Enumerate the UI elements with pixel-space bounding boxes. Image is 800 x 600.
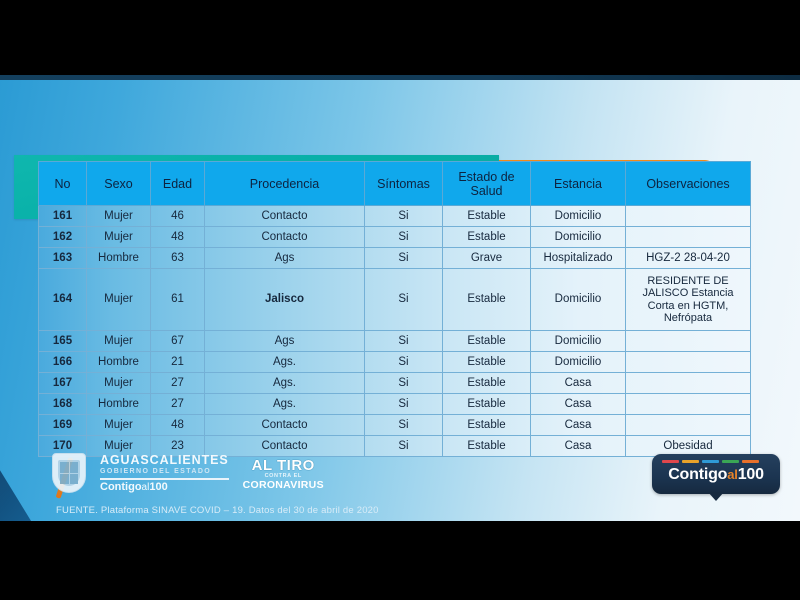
cell-procedencia: Contacto	[205, 206, 365, 227]
altiro-line1: AL TIRO	[243, 458, 324, 473]
badge-al: al	[727, 467, 737, 482]
cell-estancia: Domicilio	[531, 227, 626, 248]
cell-estancia: Casa	[531, 436, 626, 457]
cases-table: No Sexo Edad Procedencia Síntomas Estado…	[38, 161, 751, 457]
cell-sexo: Mujer	[87, 415, 151, 436]
cell-edad: 21	[151, 352, 205, 373]
cell-procedencia: Ags.	[205, 373, 365, 394]
presentation-slide: CASOS POSITIVOS No Sexo Edad Procedencia…	[0, 75, 800, 521]
cell-edad: 48	[151, 415, 205, 436]
cell-sintomas: Si	[365, 394, 443, 415]
cell-edad: 46	[151, 206, 205, 227]
cell-no: 161	[39, 206, 87, 227]
badge-label: Contigoal100	[652, 466, 780, 484]
col-header-no: No	[39, 162, 87, 206]
gov-slogan: Contigoal100	[100, 482, 229, 494]
cell-edad: 48	[151, 227, 205, 248]
cell-sintomas: Si	[365, 248, 443, 269]
badge-tail	[708, 492, 724, 501]
cell-no: 162	[39, 227, 87, 248]
cell-sintomas: Si	[365, 227, 443, 248]
gov-logo-text: AGUASCALIENTES GOBIERNO DEL ESTADO Conti…	[100, 454, 229, 494]
cell-estado: Estable	[443, 373, 531, 394]
cell-estado: Estable	[443, 269, 531, 331]
col-header-observaciones: Observaciones	[626, 162, 751, 206]
cell-no: 164	[39, 269, 87, 331]
cell-sexo: Hombre	[87, 394, 151, 415]
cell-no: 167	[39, 373, 87, 394]
aguascalientes-shield-icon	[52, 453, 86, 495]
cell-observaciones	[626, 394, 751, 415]
footer-logos: AGUASCALIENTES GOBIERNO DEL ESTADO Conti…	[52, 453, 324, 495]
cell-procedencia: Contacto	[205, 227, 365, 248]
cell-estancia: Casa	[531, 373, 626, 394]
cell-estado: Estable	[443, 436, 531, 457]
cell-sintomas: Si	[365, 352, 443, 373]
cell-sintomas: Si	[365, 331, 443, 352]
cell-procedencia: Ags.	[205, 352, 365, 373]
cell-procedencia: Contacto	[205, 415, 365, 436]
cell-procedencia: Ags.	[205, 394, 365, 415]
cell-observaciones: RESIDENTE DE JALISCO Estancia Corta en H…	[626, 269, 751, 331]
cell-observaciones	[626, 373, 751, 394]
badge-main: Contigo	[668, 466, 727, 483]
badge-bar-1	[682, 460, 699, 463]
cell-estancia: Casa	[531, 394, 626, 415]
cell-sexo: Hombre	[87, 248, 151, 269]
table-row: 166Hombre21Ags.SiEstableDomicilio	[39, 352, 751, 373]
cell-procedencia: Jalisco	[205, 269, 365, 331]
col-header-estancia: Estancia	[531, 162, 626, 206]
source-note: FUENTE. Plataforma SINAVE COVID – 19. Da…	[56, 505, 379, 516]
cell-sintomas: Si	[365, 436, 443, 457]
cell-estado: Estable	[443, 415, 531, 436]
cell-sintomas: Si	[365, 373, 443, 394]
cell-procedencia: Ags	[205, 331, 365, 352]
badge-bar-0	[662, 460, 679, 463]
altiro-logo: AL TIRO CONTRA EL CORONAVIRUS	[243, 458, 324, 491]
gov-subtitle: GOBIERNO DEL ESTADO	[100, 468, 229, 475]
cell-sexo: Hombre	[87, 352, 151, 373]
cell-sexo: Mujer	[87, 331, 151, 352]
gov-logo-divider	[100, 478, 229, 480]
cell-sintomas: Si	[365, 415, 443, 436]
cell-sexo: Mujer	[87, 269, 151, 331]
cell-no: 165	[39, 331, 87, 352]
cell-estancia: Domicilio	[531, 269, 626, 331]
cell-estado: Estable	[443, 227, 531, 248]
cell-sexo: Mujer	[87, 227, 151, 248]
table-header-row: No Sexo Edad Procedencia Síntomas Estado…	[39, 162, 751, 206]
col-header-sexo: Sexo	[87, 162, 151, 206]
cell-estado: Estable	[443, 206, 531, 227]
table-row: 165Mujer67AgsSiEstableDomicilio	[39, 331, 751, 352]
table-row: 162Mujer48ContactoSiEstableDomicilio	[39, 227, 751, 248]
table-row: 164Mujer61JaliscoSiEstableDomicilioRESID…	[39, 269, 751, 331]
cell-no: 169	[39, 415, 87, 436]
cell-edad: 67	[151, 331, 205, 352]
cell-sintomas: Si	[365, 269, 443, 331]
cell-observaciones: HGZ-2 28-04-20	[626, 248, 751, 269]
cell-sexo: Mujer	[87, 206, 151, 227]
cell-estancia: Hospitalizado	[531, 248, 626, 269]
cell-estado: Estable	[443, 331, 531, 352]
cell-estado: Grave	[443, 248, 531, 269]
slide-top-rule	[0, 75, 800, 80]
cell-observaciones	[626, 415, 751, 436]
cell-estado: Estable	[443, 394, 531, 415]
table-row: 161Mujer46ContactoSiEstableDomicilio	[39, 206, 751, 227]
badge-bar-2	[702, 460, 719, 463]
table-row: 169Mujer48ContactoSiEstableCasa	[39, 415, 751, 436]
cell-edad: 27	[151, 373, 205, 394]
cell-observaciones	[626, 331, 751, 352]
badge-bar-4	[742, 460, 759, 463]
contigo-al-100-badge: Contigoal100	[652, 454, 780, 494]
cases-table-wrapper: No Sexo Edad Procedencia Síntomas Estado…	[38, 161, 750, 457]
cell-no: 166	[39, 352, 87, 373]
table-header: No Sexo Edad Procedencia Síntomas Estado…	[39, 162, 751, 206]
cell-observaciones	[626, 352, 751, 373]
table-row: 163Hombre63AgsSiGraveHospitalizadoHGZ-2 …	[39, 248, 751, 269]
cell-observaciones	[626, 206, 751, 227]
col-header-procedencia: Procedencia	[205, 162, 365, 206]
col-header-estado-salud: Estado de Salud	[443, 162, 531, 206]
altiro-line3: CORONAVIRUS	[243, 480, 324, 491]
badge-num: 100	[738, 466, 764, 483]
badge-color-bars	[662, 460, 759, 463]
cell-observaciones	[626, 227, 751, 248]
cell-sexo: Mujer	[87, 373, 151, 394]
cell-estancia: Domicilio	[531, 206, 626, 227]
table-row: 167Mujer27Ags.SiEstableCasa	[39, 373, 751, 394]
cell-estado: Estable	[443, 352, 531, 373]
cell-edad: 61	[151, 269, 205, 331]
cell-estancia: Casa	[531, 415, 626, 436]
screenshot-stage: CASOS POSITIVOS No Sexo Edad Procedencia…	[0, 0, 800, 600]
cell-procedencia: Ags	[205, 248, 365, 269]
col-header-edad: Edad	[151, 162, 205, 206]
gov-state-name: AGUASCALIENTES	[100, 454, 229, 467]
badge-bar-3	[722, 460, 739, 463]
gov-slogan-num: 100	[149, 481, 167, 493]
cell-edad: 63	[151, 248, 205, 269]
table-row: 168Hombre27Ags.SiEstableCasa	[39, 394, 751, 415]
cell-edad: 27	[151, 394, 205, 415]
col-header-sintomas: Síntomas	[365, 162, 443, 206]
gov-slogan-main: Contigo	[100, 481, 142, 493]
cell-sintomas: Si	[365, 206, 443, 227]
cell-no: 163	[39, 248, 87, 269]
table-body: 161Mujer46ContactoSiEstableDomicilio162M…	[39, 206, 751, 457]
cell-estancia: Domicilio	[531, 331, 626, 352]
cell-no: 168	[39, 394, 87, 415]
cell-estancia: Domicilio	[531, 352, 626, 373]
